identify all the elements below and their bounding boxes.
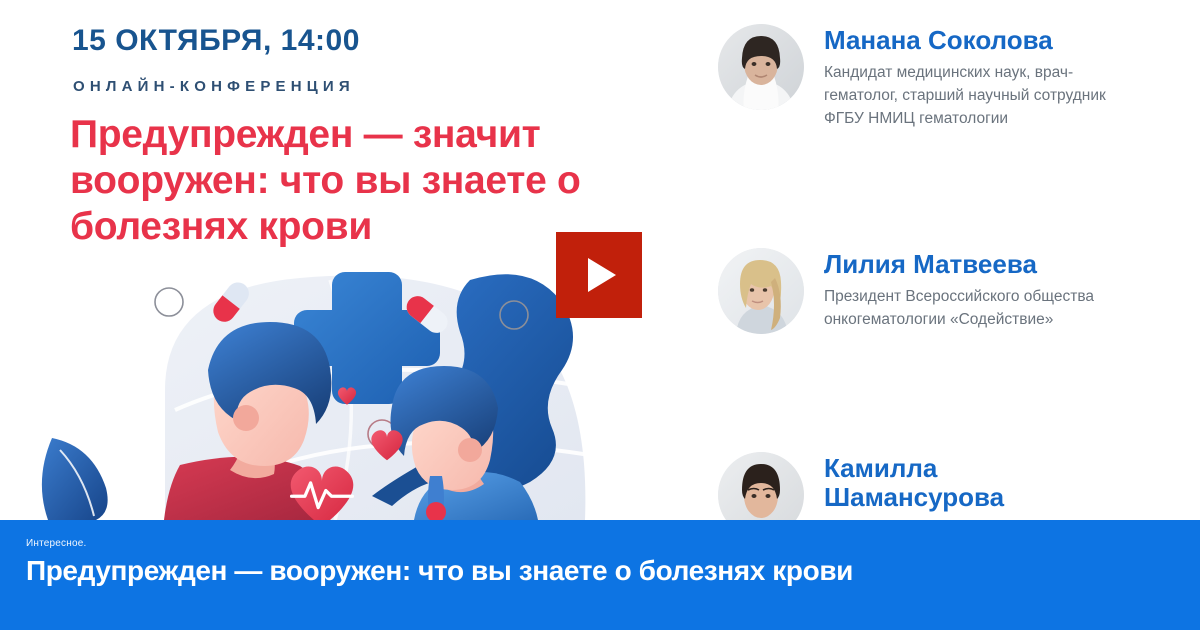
speaker-card: Лилия Матвеева Президент Всероссийского …	[718, 248, 1200, 334]
speaker-card: Камилла Шамансурова	[718, 452, 1200, 520]
outline-circle	[155, 288, 183, 316]
banner-category-label: Интересное.	[26, 538, 87, 549]
promo-canvas: 15 ОКТЯБРЯ, 14:00 ОНЛАЙН-КОНФЕРЕНЦИЯ Пре…	[0, 0, 1200, 630]
speaker-info: Лилия Матвеева Президент Всероссийского …	[824, 248, 1200, 334]
banner-title[interactable]: Предупрежден — вооружен: что вы знаете о…	[26, 555, 853, 587]
speaker-info: Камилла Шамансурова	[824, 452, 1200, 520]
play-triangle-icon	[588, 258, 616, 292]
speaker-name: Камилла Шамансурова	[824, 454, 1124, 512]
avatar	[718, 24, 804, 110]
speaker-name: Лилия Матвеева	[824, 250, 1124, 279]
leaf-shape	[42, 438, 108, 520]
speaker-card: Манана Соколова Кандидат медицинских нау…	[718, 24, 1200, 130]
event-kicker: ОНЛАЙН-КОНФЕРЕНЦИЯ	[73, 78, 355, 95]
play-button[interactable]	[556, 232, 642, 318]
bottom-banner[interactable]: Интересное. Предупрежден — вооружен: что…	[0, 520, 1200, 630]
avatar	[718, 248, 804, 334]
event-date: 15 ОКТЯБРЯ, 14:00	[72, 24, 360, 58]
page-title: Предупрежден — значит вооружен: что вы з…	[70, 112, 650, 250]
avatar-photo-manana	[718, 24, 804, 110]
speaker-info: Манана Соколова Кандидат медицинских нау…	[824, 24, 1200, 130]
speakers-column: Манана Соколова Кандидат медицинских нау…	[718, 0, 1200, 520]
speaker-role: Кандидат медицинских наук, врач-гематоло…	[824, 61, 1144, 130]
speaker-name: Манана Соколова	[824, 26, 1124, 55]
avatar-photo-kamilla	[718, 452, 804, 520]
avatar-photo-liliya	[718, 248, 804, 334]
avatar	[718, 452, 804, 520]
speaker-role: Президент Всероссийского общества онкоге…	[824, 285, 1144, 331]
